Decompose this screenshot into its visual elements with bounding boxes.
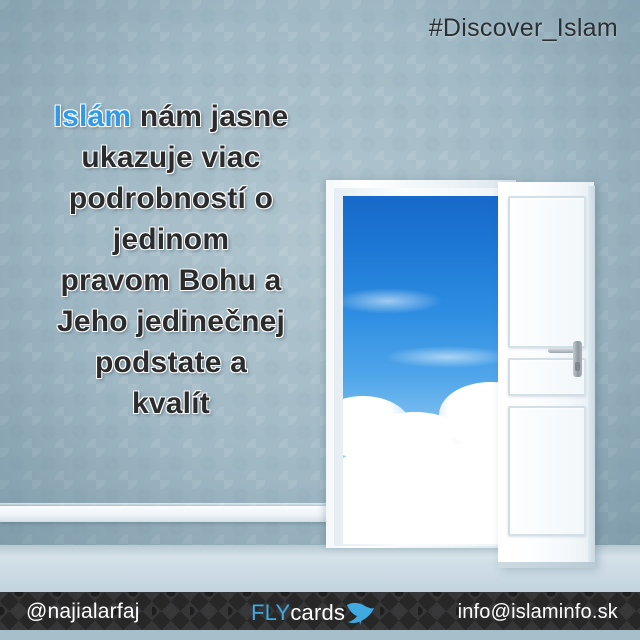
flycards-logo[interactable]: FLYcards [251,600,345,626]
bird-icon [345,601,375,627]
headline-line-8: kvalít [132,387,210,420]
door-handle-lever[interactable] [548,348,576,353]
headline-keyword: Islám [54,100,132,133]
headline-line-3: podrobností o [69,182,273,215]
door-panel-top [508,196,586,348]
flycards-logo-cards: cards [290,600,345,625]
door-edge [588,186,595,564]
headline-line-1-rest: nám jasne [131,100,288,133]
headline-line-4: jedinom [113,223,229,256]
footer-bottom-strip [0,630,640,640]
door-handle-plate[interactable] [573,341,582,377]
social-handle-label[interactable]: @najialarfaj [26,600,140,624]
door-keyhole-icon [575,362,580,371]
flycards-logo-fly: FLY [251,600,290,625]
headline-line-2: ukazuje viac [81,141,260,174]
headline-line-5: pravom Bohu a [61,264,282,297]
headline-line-6: Jeho jedinečnej [57,305,285,338]
discover-islam-card: #Discover_Islam Islám nám jasne ukazuje … [0,0,640,640]
headline-line-7: podstate a [95,346,247,379]
door-panel-bottom [508,406,586,536]
headline-text: Islám nám jasne ukazuje viac podrobností… [8,96,334,424]
doorway-opening [343,196,501,544]
door-bottom-edge [498,562,595,568]
hashtag-label: #Discover_Islam [429,14,618,43]
cloud-wisp [383,346,501,368]
email-label[interactable]: info@islaminfo.sk [458,601,618,624]
skirting-board [0,506,330,522]
